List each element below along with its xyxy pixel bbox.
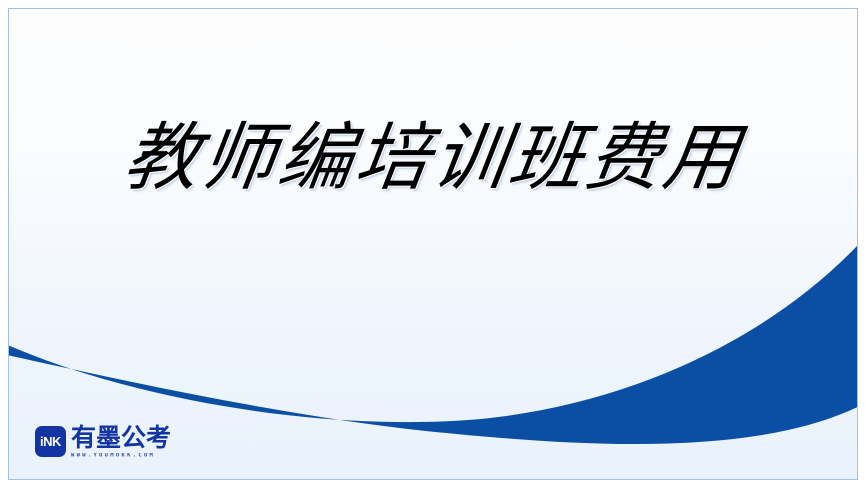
- brand-name: 有墨公考: [71, 425, 171, 451]
- logo-text-column: 有墨公考 WWW.YOUMOKK.COM: [71, 425, 171, 459]
- brand-url: WWW.YOUMOKK.COM: [71, 454, 171, 459]
- brand-logo[interactable]: iNK 有墨公考 WWW.YOUMOKK.COM: [35, 425, 171, 459]
- blue-crescent-wave: [9, 9, 857, 479]
- wave-shape: [9, 246, 857, 444]
- slide-canvas: 教师编培训班费用 iNK 有墨公考 WWW.YOUMOKK.COM: [0, 0, 866, 488]
- slide-frame: 教师编培训班费用 iNK 有墨公考 WWW.YOUMOKK.COM: [8, 8, 858, 480]
- ink-logo-icon: iNK: [35, 426, 66, 457]
